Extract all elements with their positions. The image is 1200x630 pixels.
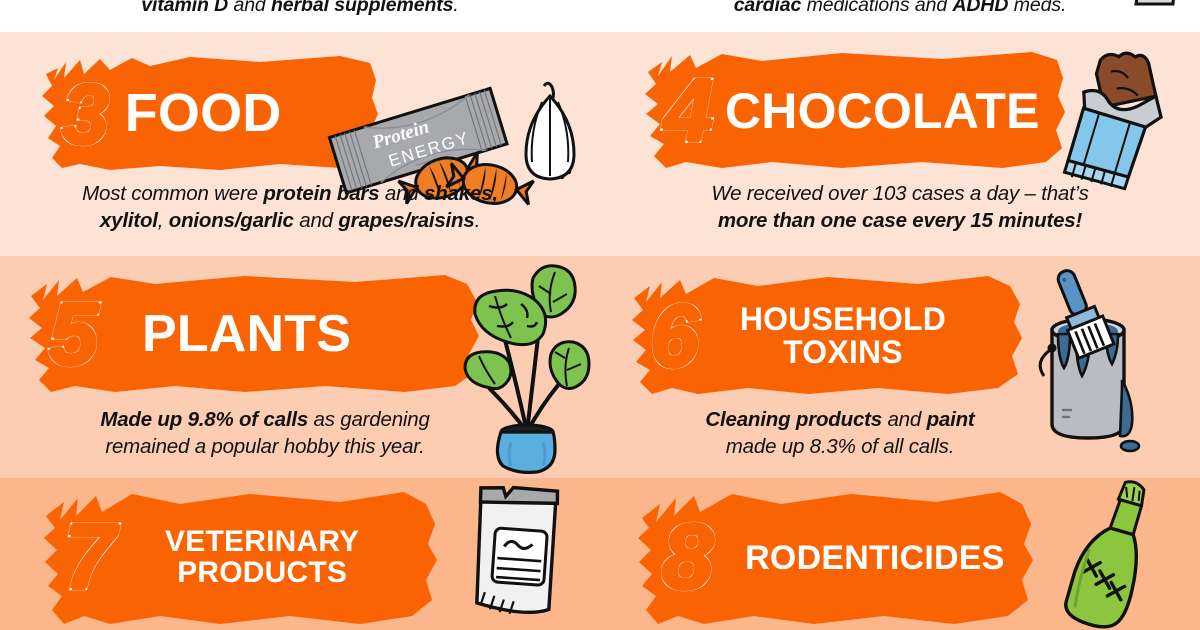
banner-household-toxins: 6 HOUSEHOLD TOXINS [628, 272, 1026, 400]
carryover-right-end: meds. [1008, 0, 1066, 16]
caption-plants-line1: Made up 9.8% of calls as gardening [50, 406, 480, 433]
item-card-veterinary-products: 7 VETERINARY PRODUCTS [0, 478, 600, 630]
caption-food-line1: Most common were protein bars and shakes… [20, 180, 560, 207]
garlic-icon [526, 83, 574, 179]
carryover-left-mid: and [228, 0, 271, 16]
caption-food: Most common were protein bars and shakes… [20, 180, 560, 234]
caption-household-l1-p2: paint [927, 408, 975, 431]
item-title-household-line1: HOUSEHOLD [723, 303, 963, 336]
caption-household-toxins: Cleaning products and paint made up 8.3%… [660, 406, 1020, 460]
caption-household-line1: Cleaning products and paint [660, 406, 1020, 433]
item-title-food: FOOD [125, 86, 282, 141]
item-number-7: 7 [64, 520, 113, 595]
item-number-3: 3 [62, 80, 107, 149]
caption-chocolate-l1: We received over 103 cases a day – that’… [711, 182, 1088, 205]
caption-food-line2: xylitol, onions/garlic and grapes/raisin… [20, 207, 560, 234]
item-number-6: 6 [650, 300, 697, 372]
chocolate-illustration-group [1040, 46, 1180, 196]
household-toxins-illustration-group [1018, 268, 1158, 468]
banner-chocolate: 4 CHOCOLATE [642, 50, 1067, 172]
caption-household-l1-p1: and [882, 408, 927, 431]
infographic-page: vitamin D and herbal supplements. cardia… [0, 0, 1200, 630]
carryover-right-mid: medications and [801, 0, 952, 16]
item-title-veterinary-line2: PRODUCTS [147, 558, 377, 589]
caption-household-line2: made up 8.3% of all calls. [660, 433, 1020, 460]
item-title-chocolate: CHOCOLATE [725, 86, 1040, 137]
item-number-4: 4 [664, 75, 711, 147]
carryover-right-bold-1: cardiac [734, 0, 802, 16]
caption-food-l2-p0: xylitol [100, 209, 158, 232]
caption-chocolate: We received over 103 cases a day – that’… [620, 180, 1180, 234]
caption-plants-l1-p1: as gardening [308, 408, 430, 431]
banner-plants: 5 PLANTS [25, 272, 485, 397]
caption-food-l1-p3: shakes, [424, 182, 498, 205]
medicine-pouch-icon [460, 478, 569, 620]
item-title-veterinary-line1: VETERINARY [147, 527, 377, 558]
caption-plants-l1-p0: Made up 9.8% of calls [100, 408, 308, 431]
caption-plants: Made up 9.8% of calls as gardening remai… [50, 406, 480, 460]
carryover-caption-right: cardiac medications and ADHD meds. [600, 0, 1200, 22]
carryover-left-end: . [453, 0, 458, 16]
banner-rodenticides: 8 RODENTICIDES [636, 488, 1036, 628]
caption-chocolate-line1: We received over 103 cases a day – that’… [620, 180, 1180, 207]
caption-food-l1-p0: Most common were [82, 182, 263, 205]
item-title-household-line2: TOXINS [723, 336, 963, 369]
item-card-rodenticides: 8 RODENTICIDES [600, 478, 1200, 630]
caption-food-l1-p2: and [379, 182, 424, 205]
veterinary-illustration-group [445, 484, 575, 630]
item-card-household-toxins: 6 HOUSEHOLD TOXINS [600, 256, 1200, 478]
item-card-chocolate: 4 CHOCOLATE [600, 32, 1200, 256]
caption-plants-l2: remained a popular hobby this year. [105, 435, 424, 458]
carryover-caption-left: vitamin D and herbal supplements. [0, 0, 600, 22]
caption-food-l2-p1: , [158, 209, 169, 232]
pill-bottle-corner-icon [1130, 0, 1182, 8]
caption-chocolate-line2: more than one case every 15 minutes! [620, 207, 1180, 234]
rodenticides-illustration-group [1048, 478, 1178, 630]
caption-food-l2-p2: onions/garlic [169, 209, 294, 232]
item-title-plants: PLANTS [142, 308, 351, 361]
item-card-plants: 5 PLANTS [0, 256, 600, 478]
caption-chocolate-l2: more than one case every 15 minutes! [718, 209, 1082, 232]
caption-food-l2-p4: grapes/raisins [338, 209, 474, 232]
item-number-5: 5 [49, 298, 96, 370]
carryover-right-bold-2: ADHD [952, 0, 1008, 16]
item-number-8: 8 [662, 520, 711, 595]
caption-household-l2: made up 8.3% of all calls. [726, 435, 954, 458]
caption-food-l2-p5: . [475, 209, 481, 232]
caption-food-l1-p1: protein bars [263, 182, 379, 205]
item-title-rodenticides: RODENTICIDES [745, 541, 1004, 576]
item-card-food: 3 FOOD [0, 32, 600, 256]
chocolate-bar-icon [1063, 47, 1169, 193]
carryover-left-bold-2: herbal supplements [271, 0, 453, 16]
caption-food-l2-p3: and [294, 209, 339, 232]
carryover-left-bold-1: vitamin D [141, 0, 228, 16]
banner-veterinary-products: 7 VETERINARY PRODUCTS [40, 488, 440, 628]
caption-plants-line2: remained a popular hobby this year. [50, 433, 480, 460]
caption-household-l1-p0: Cleaning products [705, 408, 882, 431]
poison-bottle-icon [1062, 473, 1161, 630]
potted-plant-icon [465, 266, 589, 473]
